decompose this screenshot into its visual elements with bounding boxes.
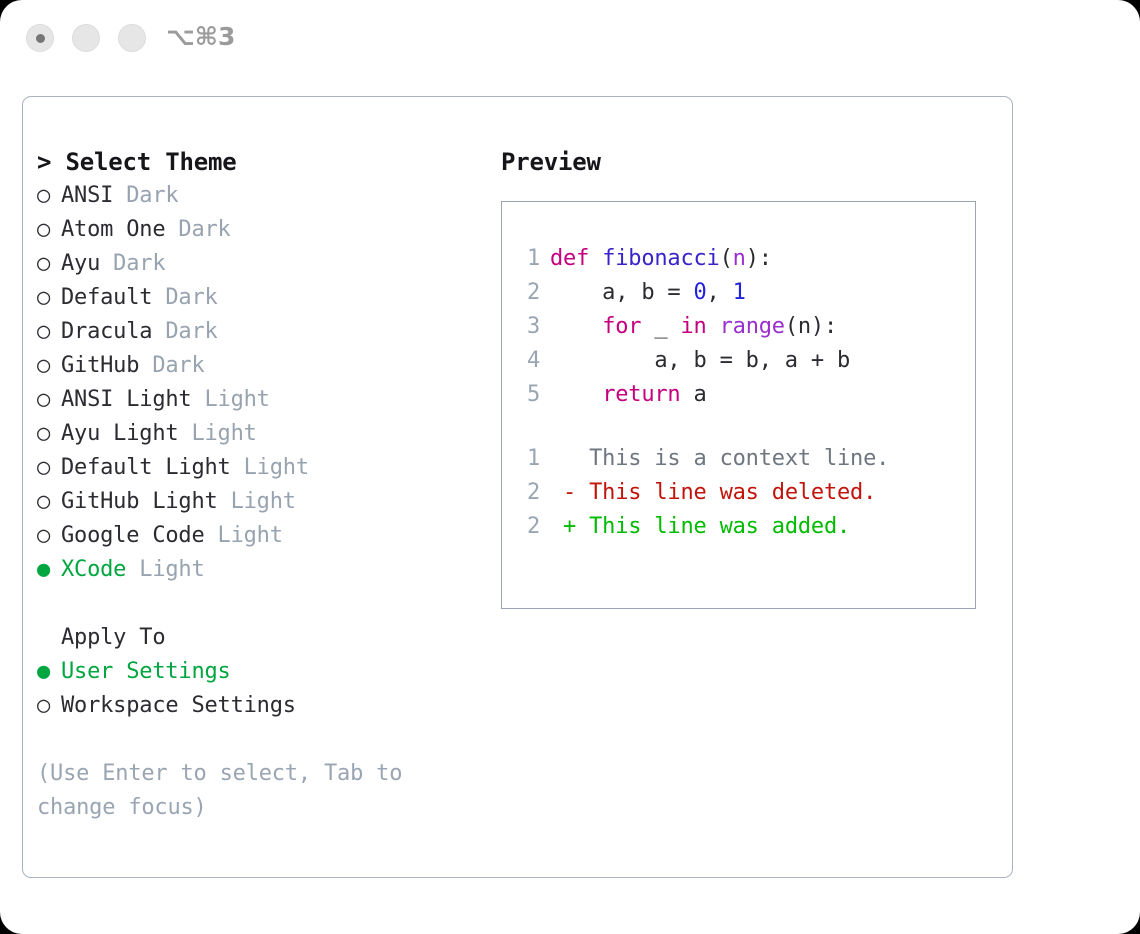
diff-text: This line was deleted. [589, 480, 876, 505]
recording-dot-inner-icon [36, 34, 45, 43]
keyboard-hint-text: (Use Enter to select, Tab to change focu… [37, 757, 437, 825]
code-token: _ [641, 314, 680, 339]
code-token [550, 314, 602, 339]
preview-column: Preview 1def fibonacci(n):2 a, b = 0, 13… [501, 145, 1001, 609]
theme-list-item[interactable]: ○ANSI Light Light [37, 383, 487, 417]
title-bar: ⌥⌘3 [0, 0, 1140, 78]
code-token [707, 314, 720, 339]
apply-to-option[interactable]: ○Workspace Settings [37, 689, 487, 723]
apply-to-option[interactable]: ●User Settings [37, 655, 487, 689]
theme-name-label: Dracula [61, 319, 152, 344]
code-line: 4 a, b = b, a + b [512, 344, 967, 378]
radio-selected-icon: ● [37, 655, 61, 689]
theme-list-item[interactable]: ○Default Dark [37, 281, 487, 315]
code-token: ( [720, 246, 733, 271]
theme-select-column: > Select Theme ○ANSI Dark○Atom One Dark○… [37, 145, 487, 825]
radio-unselected-icon: ○ [37, 247, 61, 281]
theme-variant-label: Dark [152, 319, 217, 344]
theme-variant-label: Light [218, 489, 296, 514]
theme-list-item[interactable]: ○Default Light Light [37, 451, 487, 485]
radio-unselected-icon: ○ [37, 451, 61, 485]
code-line-number: 3 [512, 310, 540, 344]
theme-list-item[interactable]: ○Ayu Light Light [37, 417, 487, 451]
app-window: ⌥⌘3 > Select Theme ○ANSI Dark○Atom One D… [0, 0, 1140, 934]
code-token: , [707, 280, 733, 305]
diff-text: This line was added. [589, 514, 850, 539]
radio-unselected-icon: ○ [37, 689, 61, 723]
preview-heading: Preview [501, 145, 1001, 179]
theme-list-item[interactable]: ○GitHub Light Light [37, 485, 487, 519]
diff-line: 1 This is a context line. [512, 442, 967, 476]
radio-unselected-icon: ○ [37, 349, 61, 383]
code-token: n [733, 246, 746, 271]
theme-name-label: Ayu Light [61, 421, 178, 446]
diff-line: 2 - This line was deleted. [512, 476, 967, 510]
theme-list-item[interactable]: ○Ayu Dark [37, 247, 487, 281]
code-token [589, 246, 602, 271]
code-token: for [602, 314, 641, 339]
diff-line-number: 1 [512, 442, 540, 476]
theme-variant-label: Dark [113, 183, 178, 208]
code-token [550, 382, 602, 407]
code-token: 0 [694, 280, 707, 305]
radio-unselected-icon: ○ [37, 213, 61, 247]
dot-2-icon[interactable] [72, 24, 100, 52]
diff-sign: + [550, 514, 589, 539]
code-token: a [680, 382, 706, 407]
theme-variant-label: Light [205, 523, 283, 548]
code-token: 1 [733, 280, 746, 305]
radio-unselected-icon: ○ [37, 417, 61, 451]
dialog-panel: > Select Theme ○ANSI Dark○Atom One Dark○… [22, 96, 1013, 878]
code-line: 3 for _ in range(n): [512, 310, 967, 344]
preview-box: 1def fibonacci(n):2 a, b = 0, 13 for _ i… [501, 201, 976, 609]
code-line-number: 5 [512, 378, 540, 412]
diff-preview: 1 This is a context line.2 - This line w… [512, 442, 967, 544]
apply-to-label: User Settings [61, 659, 231, 684]
theme-list-item[interactable]: ○GitHub Dark [37, 349, 487, 383]
window-controls [26, 24, 146, 52]
spacer [37, 587, 487, 621]
code-token: return [602, 382, 680, 407]
theme-variant-label: Light [126, 557, 204, 582]
theme-list[interactable]: ○ANSI Dark○Atom One Dark○Ayu Dark○Defaul… [37, 179, 487, 587]
code-token: ): [746, 246, 772, 271]
code-line-number: 1 [512, 242, 540, 276]
apply-to-list[interactable]: ●User Settings○Workspace Settings [37, 655, 487, 723]
radio-unselected-icon: ○ [37, 281, 61, 315]
code-preview: 1def fibonacci(n):2 a, b = 0, 13 for _ i… [512, 242, 967, 412]
diff-sign: - [550, 480, 589, 505]
diff-sign [550, 446, 589, 471]
theme-variant-label: Dark [100, 251, 165, 276]
apply-to-heading: Apply To [37, 621, 487, 655]
theme-list-item[interactable]: ○Atom One Dark [37, 213, 487, 247]
code-token: def [550, 246, 589, 271]
radio-selected-icon: ● [37, 553, 61, 587]
code-line: 2 a, b = 0, 1 [512, 276, 967, 310]
theme-variant-label: Dark [165, 217, 230, 242]
diff-text: This is a context line. [589, 446, 889, 471]
radio-unselected-icon: ○ [37, 519, 61, 553]
diff-line-number: 2 [512, 510, 540, 544]
code-token: fibonacci [602, 246, 719, 271]
theme-name-label: Default Light [61, 455, 231, 480]
code-line-number: 4 [512, 344, 540, 378]
theme-list-item[interactable]: ○Google Code Light [37, 519, 487, 553]
code-line-number: 2 [512, 276, 540, 310]
theme-select-heading: > Select Theme [37, 145, 487, 179]
apply-to-label: Workspace Settings [61, 693, 296, 718]
theme-variant-label: Dark [139, 353, 204, 378]
theme-variant-label: Light [231, 455, 309, 480]
code-token: range [720, 314, 785, 339]
radio-unselected-icon: ○ [37, 315, 61, 349]
theme-list-item[interactable]: ○Dracula Dark [37, 315, 487, 349]
theme-name-label: Atom One [61, 217, 165, 242]
theme-variant-label: Dark [152, 285, 217, 310]
code-line: 5 return a [512, 378, 967, 412]
dot-3-icon[interactable] [118, 24, 146, 52]
theme-name-label: GitHub [61, 353, 139, 378]
recording-dot-icon[interactable] [26, 24, 54, 52]
theme-name-label: Ayu [61, 251, 100, 276]
code-token: in [680, 314, 706, 339]
radio-unselected-icon: ○ [37, 383, 61, 417]
code-token: (n): [785, 314, 837, 339]
code-token: a, b = b, a + b [550, 348, 850, 373]
theme-name-label: ANSI [61, 183, 113, 208]
theme-name-label: Google Code [61, 523, 205, 548]
code-token: a, b = [550, 280, 694, 305]
radio-unselected-icon: ○ [37, 485, 61, 519]
code-line: 1def fibonacci(n): [512, 242, 967, 276]
theme-name-label: XCode [61, 557, 126, 582]
diff-line: 2 + This line was added. [512, 510, 967, 544]
theme-name-label: GitHub Light [61, 489, 218, 514]
theme-name-label: ANSI Light [61, 387, 191, 412]
theme-variant-label: Light [191, 387, 269, 412]
theme-list-item[interactable]: ○ANSI Dark [37, 179, 487, 213]
theme-list-item[interactable]: ●XCode Light [37, 553, 487, 587]
keyboard-shortcut-label: ⌥⌘3 [166, 22, 235, 51]
diff-line-number: 2 [512, 476, 540, 510]
radio-unselected-icon: ○ [37, 179, 61, 213]
theme-variant-label: Light [178, 421, 256, 446]
theme-name-label: Default [61, 285, 152, 310]
